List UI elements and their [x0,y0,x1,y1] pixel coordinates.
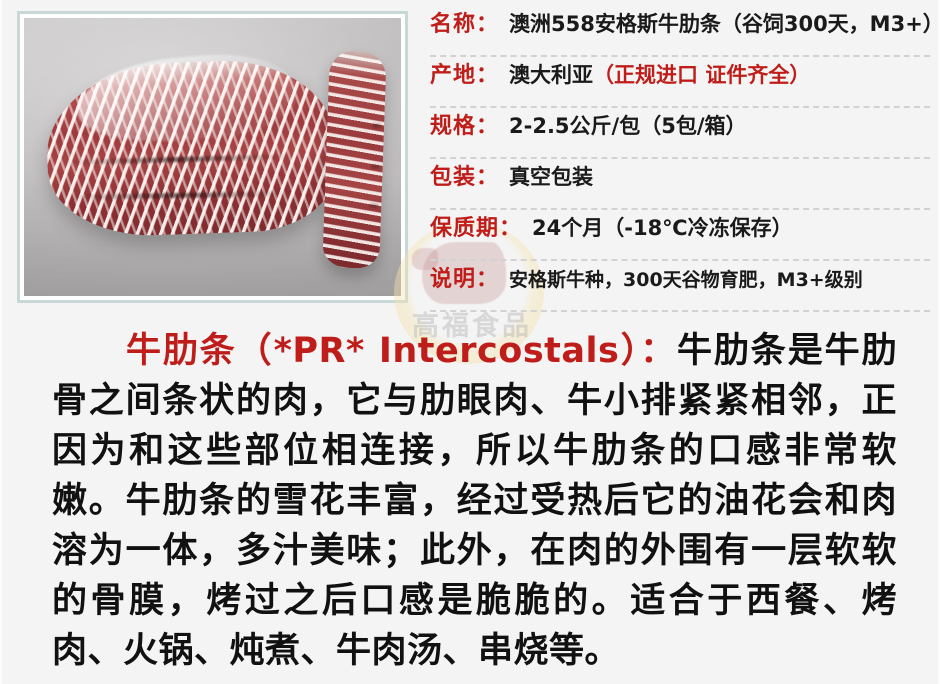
product-photo-frame [17,11,408,303]
spec-label: 说明： [430,261,509,293]
spec-row-notes: 说明： 安格斯牛种，300天谷物育肥，M3+级别 [430,261,930,312]
spec-label: 包装： [430,159,509,191]
rib-notch [371,124,381,128]
product-photo [24,18,401,296]
spec-value: 24个月（-18℃冷冻保存） [532,212,793,242]
spec-row-specification: 规格： 2-2.5公斤/包（5包/箱） [430,108,930,159]
product-detail-page: 高福食品 名称： 澳洲558安格斯牛肋条（谷饲300天，M3+） 产地： 澳大利… [0,0,940,684]
page-left-edge [0,0,6,684]
spec-value: 澳洲558安格斯牛肋条（谷饲300天，M3+） [509,8,940,38]
beef-rib-strip [322,50,386,269]
spec-label: 规格： [430,108,509,140]
spec-value-note: （正规进口 证件齐全） [593,59,810,89]
page-right-edge [934,0,940,684]
product-spec-table: 名称： 澳洲558安格斯牛肋条（谷饲300天，M3+） 产地： 澳大利亚 （正规… [430,6,930,312]
spec-row-name: 名称： 澳洲558安格斯牛肋条（谷饲300天，M3+） [430,6,930,57]
spec-value: 安格斯牛种，300天谷物育肥，M3+级别 [509,265,863,292]
spec-label: 产地： [430,57,509,89]
spec-label: 保质期： [430,210,532,242]
spec-value: 2-2.5公斤/包（5包/箱） [509,110,746,140]
description-body: 牛肋条是牛肋骨之间条状的肉，它与肋眼肉、牛小排紧紧相邻，正因为和这些部位相连接，… [52,331,897,671]
spec-label: 名称： [430,6,509,38]
spec-value: 真空包装 [509,161,593,191]
rib-notch [369,204,379,208]
spec-row-origin: 产地： 澳大利亚 （正规进口 证件齐全） [430,57,930,108]
description-heading: 牛肋条（*PR* Intercostals）： [126,331,677,371]
spec-value: 澳大利亚 [509,59,593,89]
rib-notch [370,165,380,169]
spec-row-packaging: 包装： 真空包装 [430,159,930,210]
product-description: 牛肋条（*PR* Intercostals）：牛肋条是牛肋骨之间条状的肉，它与肋… [52,326,897,676]
spec-row-shelf-life: 保质期： 24个月（-18℃冷冻保存） [430,210,930,261]
